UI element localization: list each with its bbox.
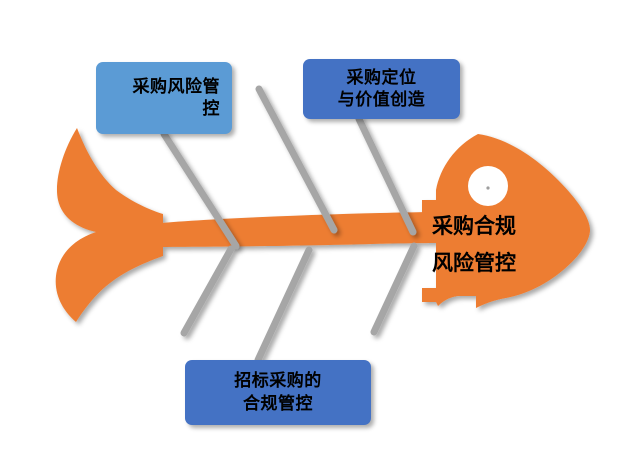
cause-box-1-line-2: 控 — [203, 98, 221, 120]
bone-lower-middle — [258, 250, 309, 360]
cause-box-3-line-1: 招标采购的 — [234, 370, 322, 392]
cause-box-2-line-1: 采购定位 — [347, 67, 417, 89]
cause-box-procurement-risk-control[interactable]: 采购风险管 控 — [96, 62, 232, 134]
bone-lower-right — [374, 246, 414, 332]
fish-eye — [468, 166, 508, 206]
fish-body-group — [56, 128, 590, 322]
cause-box-3-line-2: 合规管控 — [243, 393, 313, 415]
fishbone-diagram: 采购风险管 控 采购定位 与价值创造 招标采购的 合规管控 采购合规 风险管控 — [0, 0, 624, 456]
cause-box-2-line-2: 与价值创造 — [338, 89, 426, 111]
bone-lower-left — [184, 249, 231, 333]
cause-box-procurement-positioning[interactable]: 采购定位 与价值创造 — [303, 59, 460, 119]
cause-box-bidding-compliance[interactable]: 招标采购的 合规管控 — [185, 360, 371, 425]
cause-box-1-line-1: 采购风险管 — [133, 76, 221, 98]
fish-head-shape — [422, 134, 590, 308]
fish-tail-shape — [56, 128, 163, 322]
fish-pupil — [486, 186, 489, 189]
